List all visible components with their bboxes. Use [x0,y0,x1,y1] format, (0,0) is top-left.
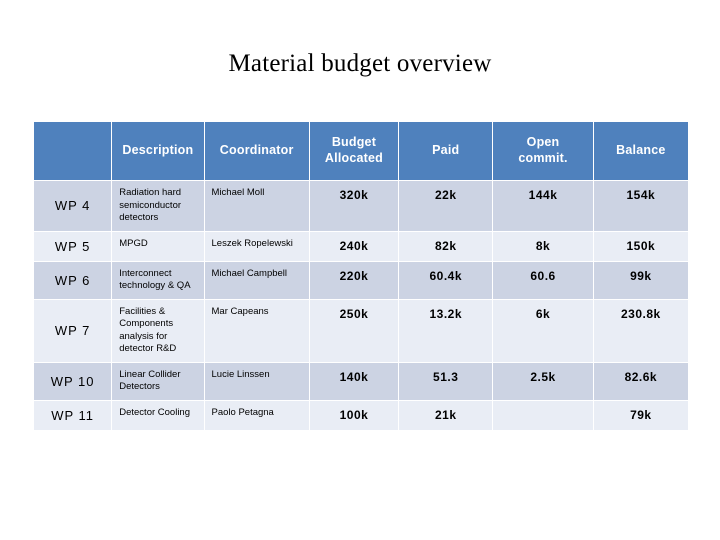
cell-description: Linear Collider Detectors [112,363,203,400]
cell-balance: 230.8k [594,300,688,362]
cell-open-commit: 144k [493,181,592,231]
column-header-budget-allocated: Budget Allocated [310,122,398,180]
column-header-coordinator: Coordinator [205,122,309,180]
cell-budget-allocated: 100k [310,401,398,430]
table-header-row: Description Coordinator Budget Allocated… [34,122,688,180]
cell-description: MPGD [112,232,203,261]
cell-paid: 21k [399,401,492,430]
cell-open-commit [493,401,592,430]
cell-budget-allocated: 140k [310,363,398,400]
cell-coordinator: Lucie Linssen [205,363,309,400]
column-header-paid: Paid [399,122,492,180]
cell-budget-allocated: 320k [310,181,398,231]
cell-balance: 150k [594,232,688,261]
cell-open-commit: 6k [493,300,592,362]
column-header-workpackage [34,122,111,180]
column-header-balance: Balance [594,122,688,180]
table-row: WP 4 Radiation hard semiconductor detect… [34,181,688,231]
slide-canvas: Material budget overview Description Coo… [0,0,720,540]
column-header-open-commit: Open commit. [493,122,592,180]
column-header-budget-allocated-line2: Allocated [325,151,383,165]
table-row: WP 11 Detector Cooling Paolo Petagna 100… [34,401,688,430]
cell-workpackage: WP 5 [34,232,111,261]
table-row: WP 5 MPGD Leszek Ropelewski 240k 82k 8k … [34,232,688,261]
table-row: WP 10 Linear Collider Detectors Lucie Li… [34,363,688,400]
cell-budget-allocated: 220k [310,262,398,299]
cell-balance: 79k [594,401,688,430]
cell-paid: 13.2k [399,300,492,362]
cell-balance: 154k [594,181,688,231]
cell-description: Detector Cooling [112,401,203,430]
cell-workpackage: WP 11 [34,401,111,430]
table-row: WP 6 Interconnect technology & QA Michae… [34,262,688,299]
page-title: Material budget overview [0,50,720,78]
cell-budget-allocated: 250k [310,300,398,362]
table-header: Description Coordinator Budget Allocated… [34,122,688,180]
cell-paid: 60.4k [399,262,492,299]
cell-coordinator: Michael Moll [205,181,309,231]
cell-description: Facilities & Components analysis for det… [112,300,203,362]
column-header-budget-allocated-line1: Budget [332,135,376,149]
cell-workpackage: WP 10 [34,363,111,400]
cell-paid: 82k [399,232,492,261]
cell-open-commit: 2.5k [493,363,592,400]
cell-description: Radiation hard semiconductor detectors [112,181,203,231]
cell-balance: 99k [594,262,688,299]
cell-budget-allocated: 240k [310,232,398,261]
cell-description: Interconnect technology & QA [112,262,203,299]
cell-open-commit: 60.6 [493,262,592,299]
cell-workpackage: WP 7 [34,300,111,362]
cell-coordinator: Leszek Ropelewski [205,232,309,261]
cell-coordinator: Paolo Petagna [205,401,309,430]
column-header-open-commit-line2: commit. [518,151,567,165]
cell-balance: 82.6k [594,363,688,400]
cell-open-commit: 8k [493,232,592,261]
cell-coordinator: Mar Capeans [205,300,309,362]
column-header-open-commit-line1: Open [527,135,560,149]
cell-workpackage: WP 6 [34,262,111,299]
cell-paid: 22k [399,181,492,231]
budget-table-container: Description Coordinator Budget Allocated… [33,121,689,431]
budget-table: Description Coordinator Budget Allocated… [33,121,689,431]
table-body: WP 4 Radiation hard semiconductor detect… [34,181,688,430]
column-header-description: Description [112,122,203,180]
cell-workpackage: WP 4 [34,181,111,231]
table-row: WP 7 Facilities & Components analysis fo… [34,300,688,362]
cell-coordinator: Michael Campbell [205,262,309,299]
cell-paid: 51.3 [399,363,492,400]
